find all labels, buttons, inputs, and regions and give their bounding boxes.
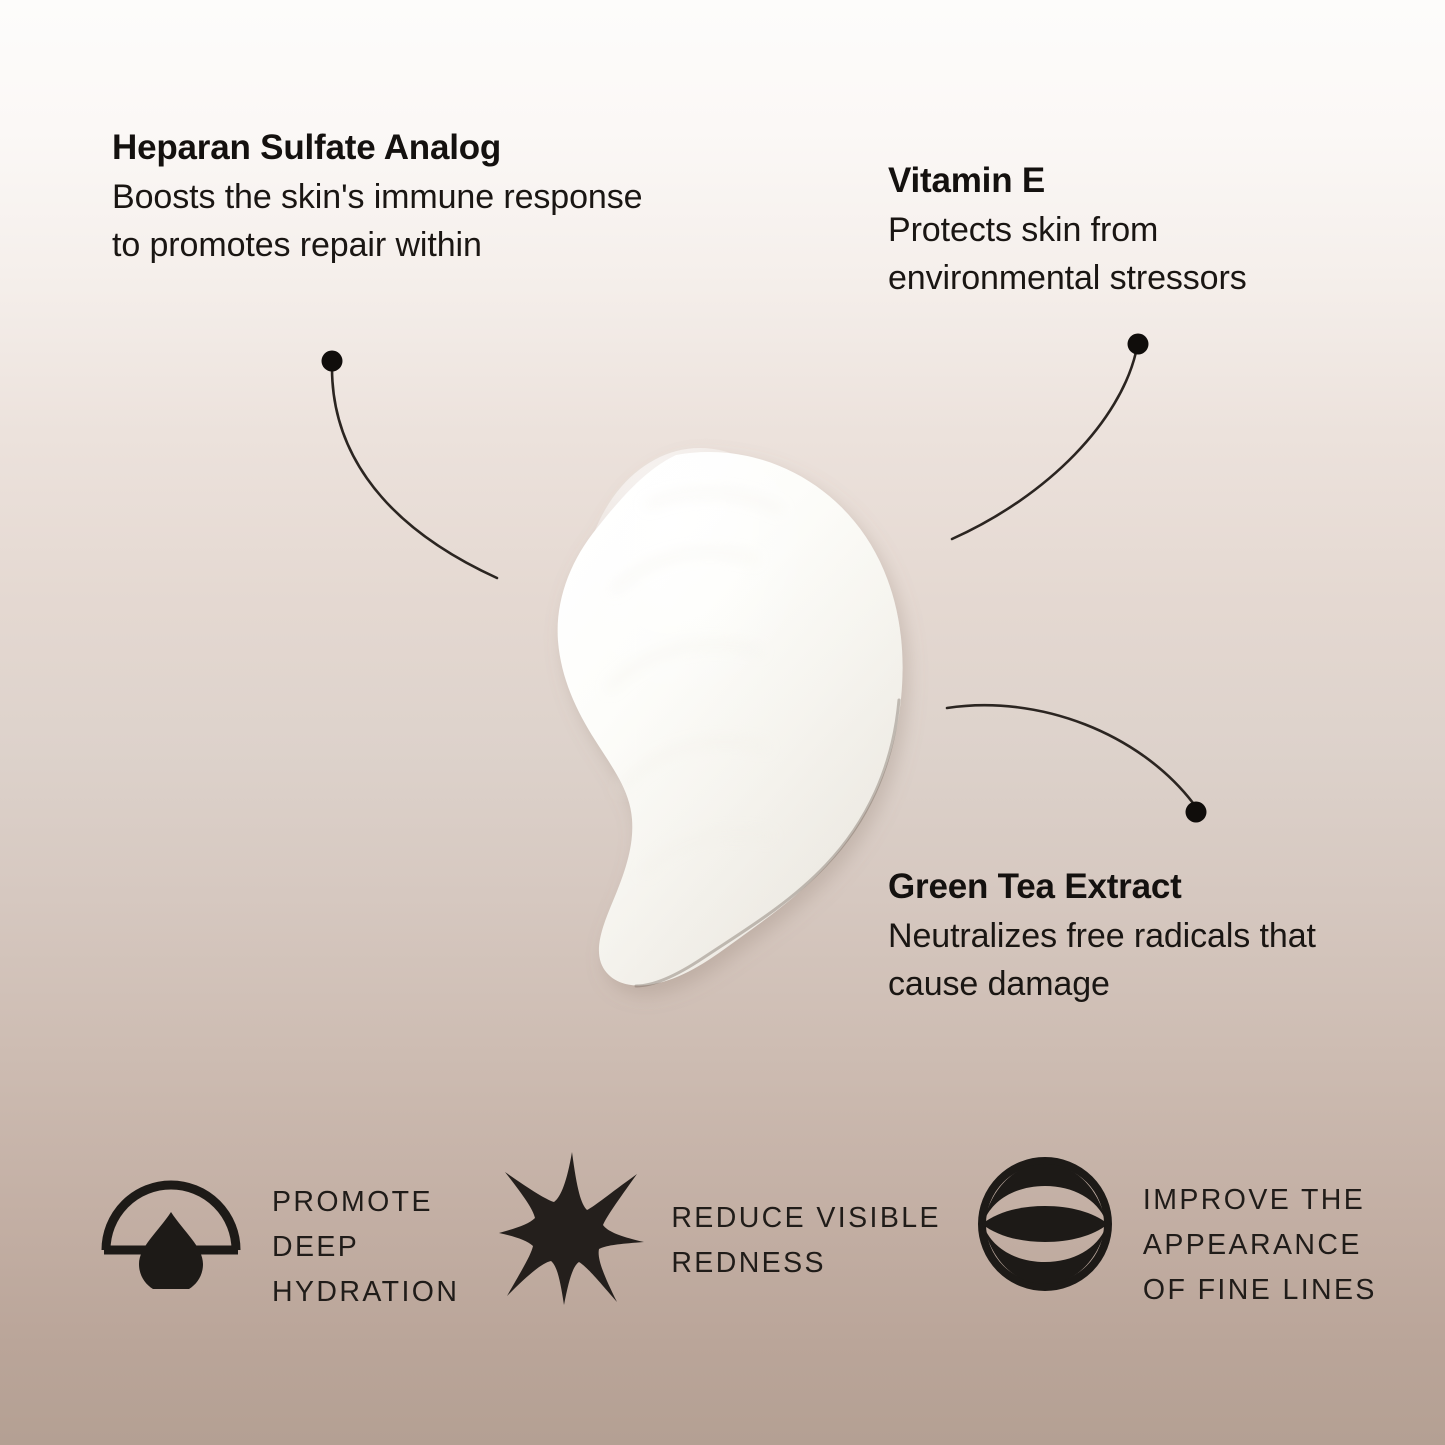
starburst-icon [497, 1148, 647, 1306]
callout-green-tea: Green Tea Extract Neutralizes free radic… [888, 864, 1348, 1008]
callout-vitamin-e: Vitamin E Protects skin from environment… [888, 158, 1348, 302]
callout-title: Vitamin E [888, 158, 1348, 204]
leader-dot-green-tea [1186, 802, 1207, 823]
infographic-canvas: Heparan Sulfate Analog Boosts the skin's… [0, 0, 1445, 1445]
leader-line-green-tea [947, 705, 1207, 822]
benefit-label: REDUCE VISIBLE REDNESS [671, 1148, 941, 1286]
callout-title: Green Tea Extract [888, 864, 1348, 910]
leader-line-vitamin-e [952, 334, 1149, 540]
benefits-row: PROMOTE DEEP HYDRATION REDUCE VISIBLE RE… [0, 1148, 1445, 1328]
cream-edge-shadow [636, 700, 899, 986]
benefit-label: IMPROVE THE APPEARANCE OF FINE LINES [1143, 1148, 1377, 1313]
benefit-reduce-visible-redness: REDUCE VISIBLE REDNESS [497, 1148, 941, 1306]
callout-description: Protects skin from environmental stresso… [888, 206, 1348, 303]
callout-title: Heparan Sulfate Analog [112, 125, 672, 171]
cream-texture [608, 493, 783, 874]
cream-highlight [582, 448, 818, 752]
callout-description: Boosts the skin's immune response to pro… [112, 173, 672, 270]
dome-water-drop-icon [98, 1154, 244, 1289]
benefit-label: PROMOTE DEEP HYDRATION [272, 1148, 459, 1315]
sphere-lines-icon [975, 1154, 1115, 1294]
leader-line-heparan [322, 351, 498, 579]
leader-dot-vitamin-e [1128, 334, 1149, 355]
benefit-promote-deep-hydration: PROMOTE DEEP HYDRATION [98, 1148, 459, 1315]
benefit-improve-fine-lines: IMPROVE THE APPEARANCE OF FINE LINES [975, 1148, 1377, 1313]
callout-heparan-sulfate: Heparan Sulfate Analog Boosts the skin's… [112, 125, 672, 269]
leader-dot-heparan [322, 351, 343, 372]
cream-swatch [558, 448, 903, 986]
callout-description: Neutralizes free radicals that cause dam… [888, 912, 1348, 1009]
